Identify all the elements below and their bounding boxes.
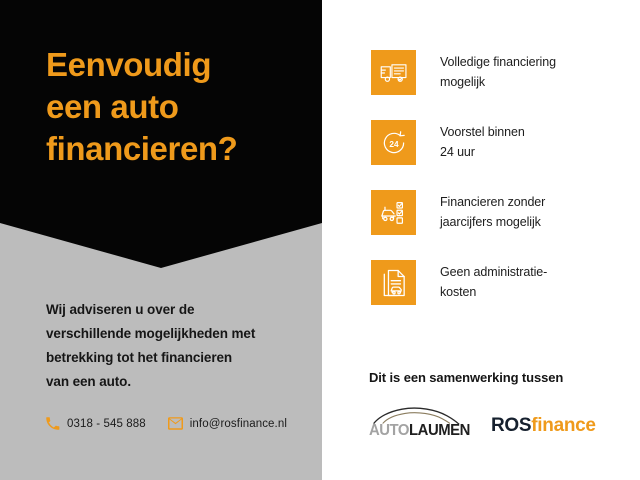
ros-finance-part-1: ROS [491,415,531,436]
ros-finance-part-2: finance [531,415,595,436]
left-panel: Eenvoudig een auto financieren? Wij advi… [0,0,322,480]
feature-line-2: jaarcijfers mogelijk [440,212,545,232]
feature-label: Financieren zonder jaarcijfers mogelijk [440,190,545,232]
envelope-icon [168,416,183,431]
auto-laumen-logo[interactable]: AUTOLAUMEN [369,407,465,439]
feature-label: Volledige financiering mogelijk [440,50,556,92]
phone-number: 0318 - 545 888 [67,418,146,430]
partnership-title: Dit is een samenwerking tussen [369,370,619,385]
email-address: info@rosfinance.nl [190,418,287,430]
feature-item-no-annual-figures: Financieren zonder jaarcijfers mogelijk [371,190,556,235]
right-panel: Volledige financiering mogelijk 24 Voors… [322,0,640,480]
document-car-icon [371,260,416,305]
feature-item-full-financing: Volledige financiering mogelijk [371,50,556,95]
contact-phone[interactable]: 0318 - 545 888 [45,416,146,431]
intro-paragraph: Wij adviseren u over de verschillende mo… [46,298,296,394]
ros-finance-logo[interactable]: ROSfinance [491,414,596,439]
feature-label: Voorstel binnen 24 uur [440,120,525,162]
feature-line-1: Geen administratie- [440,262,547,282]
partnership-block: Dit is een samenwerking tussen AUTOLAUME… [369,370,619,439]
feature-item-no-admin-costs: Geen administratie- kosten [371,260,556,305]
feature-line-2: 24 uur [440,142,525,162]
delivery-van-check-icon [371,50,416,95]
hero-title-line-2: een auto [46,86,316,128]
partner-logo-row: AUTOLAUMEN ROSfinance [369,407,619,439]
feature-list: Volledige financiering mogelijk 24 Voors… [371,50,556,330]
svg-text:24: 24 [389,138,399,148]
feature-item-24h-proposal: 24 Voorstel binnen 24 uur [371,120,556,165]
hero-title-line-3: financieren? [46,128,316,170]
feature-line-1: Voorstel binnen [440,122,525,142]
intro-line-1: Wij adviseren u over de [46,298,296,322]
intro-line-3: betrekking tot het financieren [46,346,296,370]
feature-line-1: Volledige financiering [440,52,556,72]
auto-laumen-part-2: LAUMEN [409,422,470,439]
clock-24-hours-icon: 24 [371,120,416,165]
intro-line-4: van een auto. [46,370,296,394]
feature-line-1: Financieren zonder [440,192,545,212]
car-checklist-icon [371,190,416,235]
contact-row: 0318 - 545 888 info@rosfinance.nl [45,416,287,431]
promo-banner: Eenvoudig een auto financieren? Wij advi… [0,0,640,480]
intro-line-2: verschillende mogelijkheden met [46,322,296,346]
phone-icon [45,416,60,431]
auto-laumen-wordmark: AUTOLAUMEN [369,423,470,439]
feature-label: Geen administratie- kosten [440,260,547,302]
feature-line-2: kosten [440,282,547,302]
page-title: Eenvoudig een auto financieren? [46,44,316,170]
contact-email[interactable]: info@rosfinance.nl [168,416,287,431]
auto-laumen-part-1: AUTO [369,422,409,439]
feature-line-2: mogelijk [440,72,556,92]
hero-title-line-1: Eenvoudig [46,44,316,86]
